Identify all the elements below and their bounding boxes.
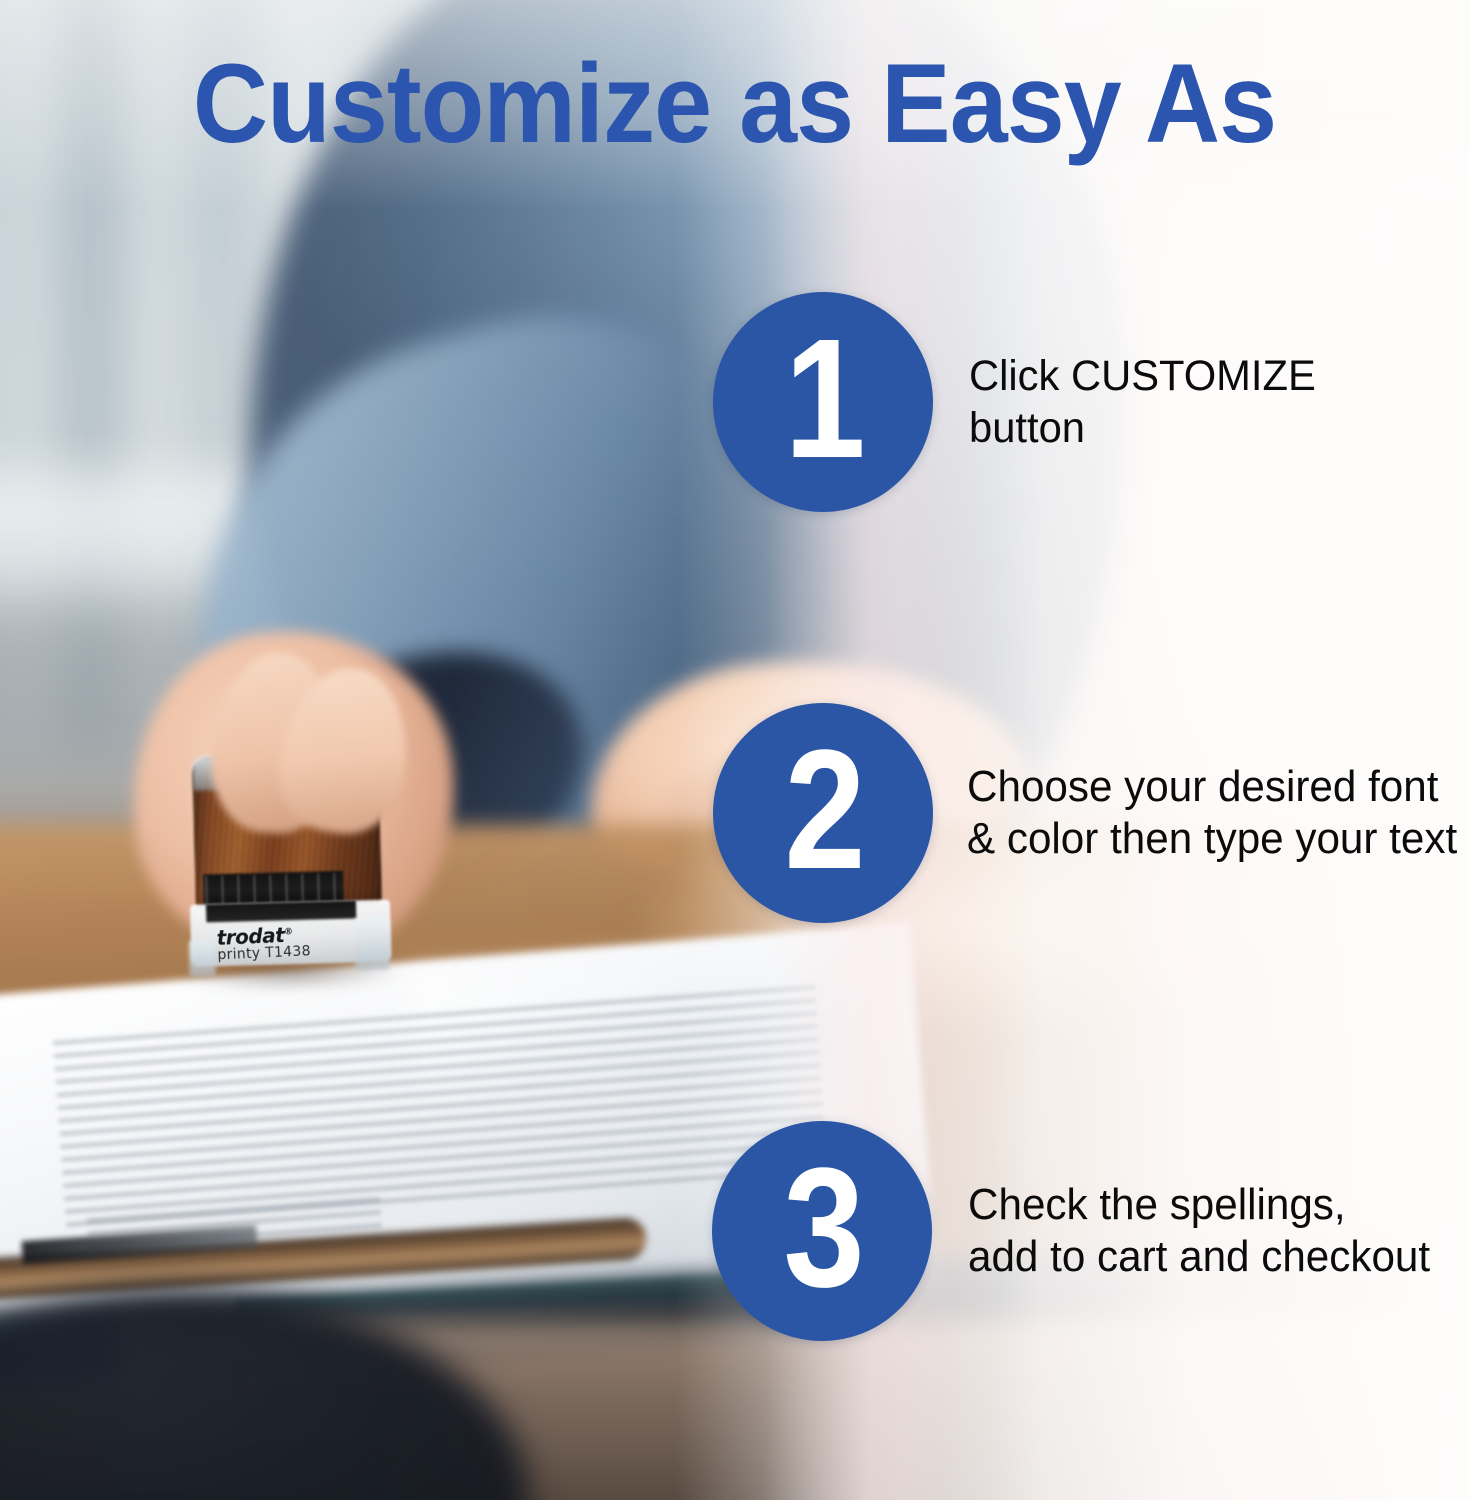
step-1-line-1: Click CUSTOMIZE	[969, 350, 1316, 402]
step-description-3: Check the spellings, add to cart and che…	[968, 1179, 1430, 1283]
step-1-line-2: button	[969, 402, 1316, 454]
promo-image: trodat® printy T1438 Customize as Easy A…	[0, 0, 1469, 1500]
step-3-line-1: Check the spellings,	[968, 1179, 1430, 1231]
step-number-1: 1	[784, 314, 862, 484]
step-number-3: 3	[783, 1143, 861, 1313]
step-badge-1: 1	[713, 292, 933, 512]
step-description-2: Choose your desired font & color then ty…	[967, 761, 1457, 865]
stamp-foot-left	[189, 940, 216, 977]
stamp-label: trodat® printy T1438	[216, 917, 364, 965]
step-item-1: 1 Click CUSTOMIZE button	[713, 292, 1327, 512]
step-2-line-1: Choose your desired font	[967, 761, 1457, 813]
step-description-1: Click CUSTOMIZE button	[969, 350, 1316, 454]
page-title: Customize as Easy As	[51, 48, 1417, 160]
step-badge-2: 2	[713, 703, 933, 923]
registered-trademark-icon: ®	[284, 927, 293, 937]
stamp-ribbon-ridges	[205, 873, 340, 904]
step-number-2: 2	[784, 725, 862, 895]
step-2-line-2: & color then type your text	[967, 813, 1457, 865]
step-3-line-2: add to cart and checkout	[968, 1231, 1430, 1283]
step-badge-3: 3	[712, 1121, 932, 1341]
step-item-3: 3 Check the spellings, add to cart and c…	[712, 1121, 1444, 1341]
step-item-2: 2 Choose your desired font & color then …	[713, 703, 1469, 923]
